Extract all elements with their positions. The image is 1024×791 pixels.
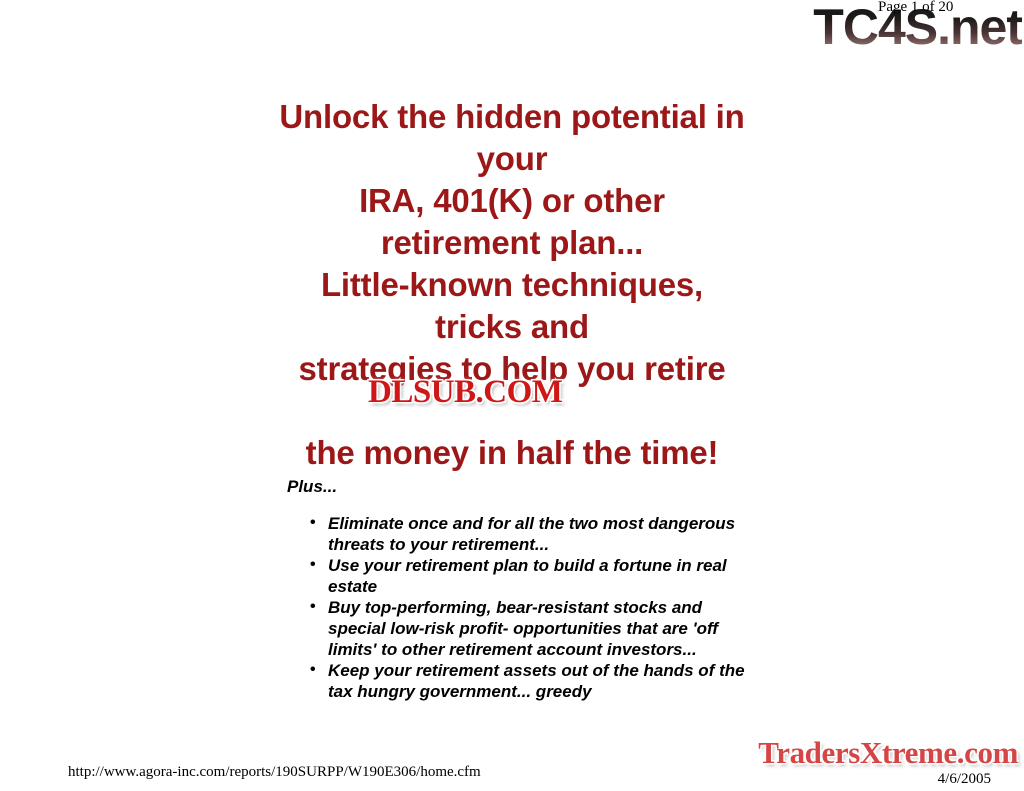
title-line: tricks and (0, 306, 1024, 348)
dlsub-watermark: DLSUB.COM (368, 376, 562, 409)
title-line: retirement plan... (0, 222, 1024, 264)
list-item: Keep your retirement assets out of the h… (305, 660, 745, 702)
page-title: Unlock the hidden potential in your IRA,… (0, 96, 1024, 474)
slide-page: TC4S.net Page 1 of 20 Unlock the hidden … (0, 0, 1024, 791)
list-item: Buy top-performing, bear-resistant stock… (305, 597, 745, 660)
list-item: Eliminate once and for all the two most … (305, 513, 745, 555)
title-line: IRA, 401(K) or other (0, 180, 1024, 222)
title-line: the money in half the time! (0, 432, 1024, 474)
page-indicator: Page 1 of 20 (878, 0, 953, 16)
title-line: Unlock the hidden potential in (0, 96, 1024, 138)
list-item: Use your retirement plan to build a fort… (305, 555, 745, 597)
title-line: Little-known techniques, (0, 264, 1024, 306)
footer-date: 4/6/2005 (938, 771, 991, 788)
benefits-list: Eliminate once and for all the two most … (305, 513, 745, 702)
footer-source-url: http://www.agora-inc.com/reports/190SURP… (68, 764, 481, 781)
tradersxtreme-brand-logo: TradersXtreme.com (758, 736, 1018, 769)
plus-label: Plus... (287, 477, 337, 497)
title-line: your (0, 138, 1024, 180)
